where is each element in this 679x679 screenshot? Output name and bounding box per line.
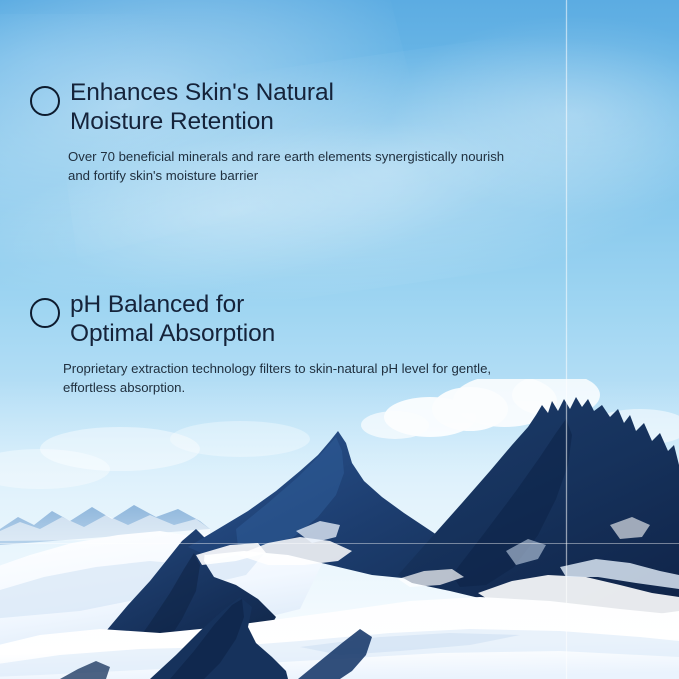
feature-title: Enhances Skin's Natural Moisture Retenti… — [70, 78, 639, 137]
feature-list: Enhances Skin's Natural Moisture Retenti… — [0, 0, 679, 679]
feature-heading-row: Enhances Skin's Natural Moisture Retenti… — [30, 78, 639, 137]
feature-title: pH Balanced for Optimal Absorption — [70, 290, 639, 349]
product-feature-poster: Enhances Skin's Natural Moisture Retenti… — [0, 0, 679, 679]
feature-item-moisture-retention: Enhances Skin's Natural Moisture Retenti… — [30, 78, 639, 185]
feature-item-ph-balanced: pH Balanced for Optimal Absorption Propr… — [30, 290, 639, 397]
circle-outline-icon — [30, 298, 60, 328]
feature-heading-row: pH Balanced for Optimal Absorption — [30, 290, 639, 349]
feature-description: Over 70 beneficial minerals and rare ear… — [68, 148, 568, 185]
circle-outline-icon — [30, 86, 60, 116]
feature-description: Proprietary extraction technology filter… — [63, 360, 558, 397]
